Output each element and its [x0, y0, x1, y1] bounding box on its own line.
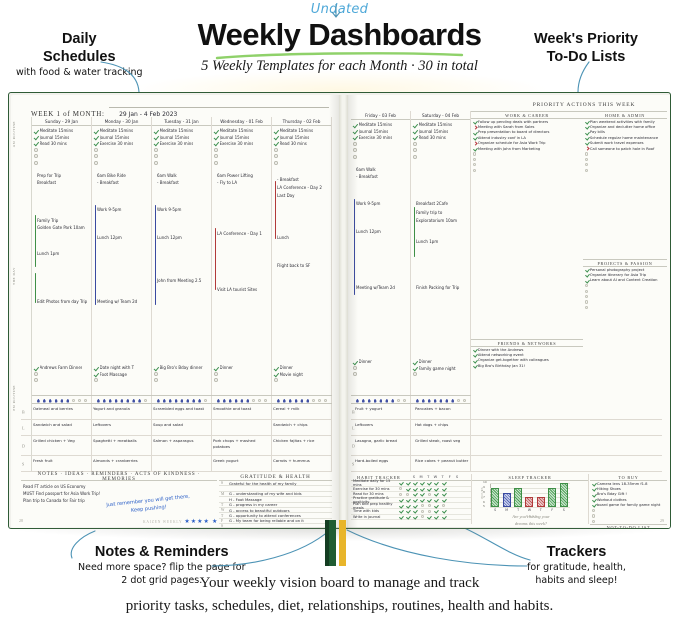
check-icon	[94, 366, 98, 370]
water-drop-icon[interactable]	[379, 399, 382, 403]
water-drop-icon[interactable]	[169, 399, 172, 403]
check-icon	[413, 129, 417, 133]
empty-checkbox[interactable]	[214, 161, 218, 165]
water-drop-icon[interactable]	[318, 399, 321, 402]
schedule-entry[interactable]: Visit LA tourist Sites	[217, 287, 257, 292]
water-drop-icon[interactable]	[434, 399, 437, 403]
meal-cell[interactable]: Fruit + yogurt	[355, 406, 413, 412]
category-title: HOME & ADMIN	[605, 113, 645, 118]
water-drop-icon[interactable]	[60, 399, 63, 403]
empty-checkbox[interactable]	[585, 169, 588, 172]
habit-cell[interactable]	[426, 514, 433, 520]
schedule-entry[interactable]: LA Conference - Day 1	[217, 231, 262, 236]
water-drop-icon[interactable]	[457, 399, 460, 402]
schedule-entry[interactable]: John from Meeting 2.5	[157, 278, 201, 283]
check-icon	[421, 498, 424, 501]
list-item-label: board game for family game night	[597, 503, 660, 507]
empty-checkbox[interactable]	[34, 154, 38, 158]
water-drop-icon[interactable]	[240, 399, 243, 403]
check-icon	[442, 509, 445, 512]
water-drop-icon[interactable]	[385, 399, 388, 403]
water-drop-icon[interactable]	[229, 399, 232, 403]
water-drop-icon[interactable]	[49, 399, 52, 403]
schedule-entry[interactable]: Edit Photos from day Trip	[37, 299, 87, 304]
gratitude-day: W	[221, 508, 226, 512]
meal-cell[interactable]: Oatmeal and berries	[33, 406, 91, 412]
schedule-entry[interactable]: - Breakfast	[356, 174, 378, 179]
empty-checkbox[interactable]	[413, 372, 417, 376]
evening-routine: DinnerMovie night	[272, 363, 332, 384]
habit-cell[interactable]	[419, 514, 426, 520]
water-drop-icon[interactable]	[451, 399, 454, 403]
day-header[interactable]: Wednesday - 01 Feb	[212, 117, 271, 126]
check-icon	[442, 481, 445, 484]
water-drop-icon[interactable]	[246, 399, 249, 403]
water-drop-icon[interactable]	[391, 399, 394, 403]
day-schedule[interactable]: 6am Walk- BreakfastWork 9-5pmLunch 12pmJ…	[152, 173, 212, 363]
empty-checkbox[interactable]	[421, 515, 424, 518]
water-drop-icon[interactable]	[120, 399, 123, 403]
checklist-item[interactable]	[94, 159, 149, 165]
habit-day-label: S	[454, 475, 461, 479]
category-items[interactable]: Dinner with the AndrewsAttend networking…	[471, 347, 583, 369]
schedule-entry[interactable]: Breakfast	[37, 180, 56, 185]
meal-cell[interactable]: Chicken fajitas + rice	[273, 438, 331, 444]
empty-checkbox[interactable]	[34, 372, 38, 376]
water-drop-icon[interactable]	[264, 399, 267, 402]
checklist-item[interactable]	[353, 153, 408, 159]
water-drop-icon[interactable]	[55, 399, 58, 403]
water-drop-icon[interactable]	[422, 399, 425, 403]
checklist-item[interactable]: Big Bro's Bday dinner	[154, 365, 210, 371]
empty-checkbox[interactable]	[473, 152, 476, 155]
water-drop-icon[interactable]	[132, 399, 135, 403]
check-icon	[406, 487, 409, 490]
water-drop-icon[interactable]	[445, 399, 448, 403]
empty-checkbox[interactable]	[214, 148, 218, 152]
meal-cell[interactable]: Greek yogurt	[213, 458, 271, 464]
list-item[interactable]: Schedule regular home maintenance	[583, 135, 667, 140]
list-item-label: Workout clothes	[597, 498, 627, 502]
habit-cell[interactable]	[397, 514, 404, 520]
empty-checkbox[interactable]	[154, 154, 158, 158]
empty-checkbox[interactable]	[585, 158, 588, 161]
water-drop-icon[interactable]	[103, 399, 106, 403]
checklist-item[interactable]	[214, 377, 270, 383]
empty-checkbox[interactable]	[413, 155, 417, 159]
check-icon	[406, 498, 409, 501]
empty-checkbox[interactable]	[585, 152, 588, 155]
empty-checkbox[interactable]	[592, 509, 595, 512]
check-icon	[435, 498, 438, 501]
schedule-entry[interactable]: Meeting w/Team 2d	[356, 285, 395, 290]
list-item-label: Learn about AI and Content Creation	[590, 278, 658, 282]
empty-checkbox[interactable]	[421, 504, 424, 507]
empty-checkbox[interactable]	[214, 378, 218, 382]
meal-cell[interactable]: Yogurt and granola	[93, 406, 151, 412]
meal-cell[interactable]: Smoothie and toast	[213, 406, 271, 412]
water-drop-icon[interactable]	[463, 399, 466, 402]
habit-cell[interactable]	[440, 514, 447, 520]
meal-cell[interactable]: Salmon + asparagus	[153, 438, 211, 444]
callout-daily-line1: Daily	[16, 30, 143, 48]
empty-checkbox[interactable]	[585, 295, 588, 298]
time-block-bar	[95, 205, 97, 305]
meal-cell[interactable]: Hard-boiled eggs	[355, 458, 413, 464]
water-drop-icon[interactable]	[235, 399, 238, 403]
empty-checkbox[interactable]	[406, 493, 409, 496]
checklist-item[interactable]	[274, 377, 330, 383]
water-drop-icon[interactable]	[428, 399, 431, 403]
list-item-label: Follow up pending deals with partners	[478, 120, 548, 124]
category-items[interactable]: Plan weekend activities with familyOrgan…	[583, 119, 667, 173]
schedule-entry[interactable]: - Fly to LA	[217, 180, 237, 185]
checklist-item[interactable]	[94, 377, 150, 383]
empty-checkbox[interactable]	[274, 378, 278, 382]
meal-cell[interactable]: Leftovers	[355, 422, 413, 428]
check-icon	[34, 129, 38, 133]
gratitude-body[interactable]: SGrateful for the health of my familyMG …	[219, 481, 332, 529]
checklist-item[interactable]	[274, 159, 329, 165]
list-item[interactable]	[583, 305, 667, 310]
day-header[interactable]: Friday - 03 Feb	[351, 111, 410, 120]
empty-checkbox[interactable]	[34, 161, 38, 165]
schedule-entry[interactable]: Lunch	[277, 235, 289, 240]
schedule-entry[interactable]: Last Day	[277, 193, 295, 198]
day-header[interactable]: Tuesday - 31 Jan	[152, 117, 211, 126]
water-drop-icon[interactable]	[368, 399, 371, 403]
empty-checkbox[interactable]	[94, 161, 98, 165]
gratitude-text: H - Foot Massage	[229, 497, 262, 502]
checklist-label: Meditate 15mins	[100, 128, 134, 133]
meal-cell[interactable]: Pancakes + bacon	[415, 406, 473, 412]
list-item-label: Hiking Shoes	[597, 487, 621, 491]
check-icon	[592, 493, 595, 496]
day-header[interactable]: Saturday - 04 Feb	[411, 111, 470, 120]
water-drop-icon[interactable]	[157, 399, 160, 403]
water-drop-icon[interactable]	[258, 399, 261, 402]
meal-cell[interactable]: Scrambled eggs and toast	[153, 406, 211, 412]
water-drop-icon[interactable]	[72, 399, 75, 402]
checklist-item[interactable]	[413, 153, 468, 159]
habit-cell[interactable]	[411, 514, 418, 520]
schedule-entry[interactable]: Meeting w/ Team 2d	[97, 299, 137, 304]
empty-checkbox[interactable]	[442, 504, 445, 507]
water-drop-icon[interactable]	[43, 399, 46, 403]
schedule-entry[interactable]: Exploratorium 10am	[416, 218, 457, 223]
checklist-item[interactable]	[154, 377, 210, 383]
habit-rows[interactable]: Meditate daily for 15 minsExercise for 3…	[351, 481, 471, 520]
meal-cell[interactable]: Carrots + hummus	[273, 458, 331, 464]
checklist-label: Meditate 15mins	[280, 128, 314, 133]
water-tracker-left[interactable]	[32, 395, 332, 404]
meal-cell[interactable]: Spaghetti + meatballs	[93, 438, 151, 444]
checklist-label: Meditate 15mins	[220, 128, 254, 133]
schedule-entry[interactable]: LA Conference - Day 2	[277, 185, 322, 190]
meal-cell[interactable]: Leftovers	[93, 422, 151, 428]
habit-day-label: W	[432, 475, 439, 479]
check-icon	[585, 136, 588, 139]
water-drop-icon[interactable]	[324, 399, 327, 402]
empty-checkbox[interactable]	[274, 154, 278, 158]
water-tracker-right[interactable]	[351, 395, 471, 404]
to-buy-list[interactable]: Camera lens 18-35mm f1.8Hiking ShoesBro'…	[590, 481, 667, 524]
meal-cell[interactable]: Hot dogs + chips	[415, 422, 473, 428]
empty-checkbox[interactable]	[274, 161, 278, 165]
checklist-label: Meditate 15mins	[359, 122, 393, 127]
water-drop-icon[interactable]	[175, 399, 178, 403]
list-item[interactable]	[583, 168, 667, 173]
checklist-item[interactable]	[413, 371, 469, 377]
water-drop-icon[interactable]	[97, 399, 100, 403]
checklist-item[interactable]: Andrews Farm Dinner	[34, 365, 90, 371]
habit-day-label: S	[411, 475, 418, 479]
empty-checkbox[interactable]	[473, 158, 476, 161]
empty-checkbox[interactable]	[585, 300, 588, 303]
callout-trackers-line1: Trackers	[527, 543, 626, 561]
list-item[interactable]: Organize and declutter home office	[583, 124, 667, 129]
meal-cell[interactable]: Soup and salad	[153, 422, 211, 428]
water-drop-icon[interactable]	[416, 399, 419, 403]
schedule-entry[interactable]: Lunch 12pm	[356, 229, 381, 234]
water-drop-icon[interactable]	[277, 399, 280, 403]
check-icon	[473, 364, 476, 367]
water-drop-icon[interactable]	[403, 399, 406, 402]
day-schedule[interactable]: 6am Power Lifting- Fly to LALA Conferenc…	[212, 173, 272, 363]
empty-checkbox[interactable]	[214, 372, 218, 376]
water-drop-icon[interactable]	[217, 399, 220, 403]
callout-priority-line2: To-Do Lists	[534, 48, 638, 66]
note-line[interactable]: Read FT article on US Economy	[23, 483, 215, 490]
sleep-y-tick: 10	[483, 481, 569, 484]
right-page: PRIORITY ACTIONS THIS WEEK Friday - 03 F…	[349, 95, 670, 528]
water-drop-icon[interactable]	[138, 399, 141, 403]
water-drop-icon[interactable]	[198, 399, 201, 403]
schedule-entry[interactable]: Family trip to	[416, 210, 442, 215]
schedule-entry[interactable]: Lunch 12pm	[97, 235, 122, 240]
empty-checkbox[interactable]	[421, 510, 424, 513]
empty-checkbox[interactable]	[154, 378, 158, 382]
empty-checkbox[interactable]	[585, 284, 588, 287]
meal-cell[interactable]: Sandwich + chips	[273, 422, 331, 428]
empty-checkbox[interactable]	[592, 520, 595, 523]
list-item[interactable]: Big Bro's Birthday Jan 31!	[471, 363, 583, 368]
empty-checkbox[interactable]	[585, 163, 588, 166]
empty-checkbox[interactable]	[94, 378, 98, 382]
meal-cell[interactable]: Almonds + cranberries	[93, 458, 151, 464]
empty-checkbox[interactable]	[585, 306, 588, 309]
water-drop-icon[interactable]	[180, 399, 183, 403]
water-drop-icon[interactable]	[109, 399, 112, 403]
schedule-entry[interactable]: - Breakfast	[97, 180, 119, 185]
gratitude-text: G - My team for being reliable and on it	[229, 518, 304, 523]
empty-checkbox[interactable]	[413, 148, 417, 152]
schedule-entry[interactable]: Finish Packing for Trip	[416, 285, 459, 290]
list-item[interactable]: board game for family game night	[590, 503, 667, 508]
checklist-label: Foot Massage	[100, 372, 127, 377]
meal-cell[interactable]: Rice cakes + peanut butter	[415, 458, 473, 464]
habit-row[interactable]: Write in journal	[351, 515, 471, 521]
meal-row: SHard-boiled eggsRice cakes + peanut but…	[351, 456, 662, 472]
water-drop-icon[interactable]	[37, 399, 40, 403]
meal-cell[interactable]: Sandwich and salad	[33, 422, 91, 428]
schedule-entry[interactable]: Breakfast 2Cafe	[416, 201, 448, 206]
product-promo-page: Undated Weekly Dashboards 5 Weekly Templ…	[0, 0, 679, 638]
checklist-item[interactable]	[154, 159, 209, 165]
water-drop-icon[interactable]	[300, 399, 303, 403]
check-icon	[473, 136, 476, 139]
habit-cell[interactable]	[433, 514, 440, 520]
day-schedule[interactable]: - BreakfastLA Conference - Day 2Last Day…	[272, 173, 332, 363]
water-drop-icon[interactable]	[362, 399, 365, 403]
empty-checkbox[interactable]	[399, 493, 402, 496]
meal-cell[interactable]: Lasagna, garlic bread	[355, 438, 413, 444]
water-drop-icon[interactable]	[289, 399, 292, 403]
check-icon	[406, 504, 409, 507]
water-drop-icon[interactable]	[144, 399, 147, 402]
schedule-entry[interactable]: 6am Power Lifting	[217, 173, 253, 178]
water-drop-icon[interactable]	[223, 399, 226, 403]
check-icon	[592, 504, 595, 507]
schedule-entry[interactable]: Family Trip	[37, 218, 58, 223]
checklist-item[interactable]	[214, 159, 269, 165]
water-drop-icon[interactable]	[163, 399, 166, 403]
water-drop-icon[interactable]	[186, 399, 189, 403]
empty-checkbox[interactable]	[154, 161, 158, 165]
water-drop-icon[interactable]	[84, 399, 87, 402]
day-schedule[interactable]: 6am Bike Ride- BreakfastWork 9-5pmLunch …	[92, 173, 152, 363]
checklist-label: Journal 15mins	[220, 135, 250, 140]
schedule-entry[interactable]: Work 9-5pm	[356, 201, 380, 206]
day-schedule[interactable]: Breakfast 2CafeFamily trip toExploratori…	[411, 167, 471, 357]
day-schedule[interactable]: 6am Walk- BreakfastWork 9-5pmLunch 12pmM…	[351, 167, 411, 357]
water-drop-icon[interactable]	[204, 399, 207, 402]
schedule-entry[interactable]: - Breakfast	[277, 177, 299, 182]
check-icon	[406, 509, 409, 512]
empty-checkbox[interactable]	[94, 154, 98, 158]
check-icon	[428, 481, 431, 484]
checklist-item[interactable]	[34, 159, 89, 165]
empty-checkbox[interactable]	[592, 514, 595, 517]
meal-cell[interactable]: Grilled steak, roast veg	[415, 438, 473, 444]
water-drop-icon[interactable]	[252, 399, 255, 402]
meal-row: LLeftoversHot dogs + chips	[351, 420, 662, 436]
day-schedule[interactable]: Prep for TripBreakfastFamily TripGolden …	[32, 173, 92, 363]
habit-day-label: M	[418, 475, 425, 479]
check-icon	[413, 481, 416, 484]
schedule-entry[interactable]: Lunch 1pm	[416, 239, 438, 244]
water-drop-icon[interactable]	[115, 399, 118, 403]
empty-checkbox[interactable]	[428, 510, 431, 513]
water-drop-icon[interactable]	[374, 399, 377, 403]
checklist-item[interactable]	[34, 377, 90, 383]
schedule-entry[interactable]: Prep for Trip	[37, 173, 61, 178]
empty-checkbox[interactable]	[34, 378, 38, 382]
schedule-entry[interactable]: Work 9-5pm	[157, 207, 181, 212]
rail-label-0: AM ROUTINE	[12, 121, 23, 147]
empty-checkbox[interactable]	[154, 372, 158, 376]
check-icon	[154, 135, 158, 139]
list-item[interactable]	[471, 168, 583, 173]
meal-tag: S	[22, 461, 24, 466]
sleep-x-tick: W	[525, 508, 533, 512]
check-icon	[94, 372, 98, 376]
empty-checkbox[interactable]	[473, 163, 476, 166]
schedule-entry[interactable]: Lunch 1pm	[37, 251, 59, 256]
checklist-item[interactable]	[353, 371, 409, 377]
category-items[interactable]: Follow up pending deals with partnersMee…	[471, 119, 583, 173]
empty-checkbox[interactable]	[413, 142, 417, 146]
empty-checkbox[interactable]	[473, 169, 476, 172]
meal-cell[interactable]: Fresh fruit	[33, 458, 91, 464]
empty-checkbox[interactable]	[214, 154, 218, 158]
water-drop-icon[interactable]	[295, 399, 298, 403]
check-icon	[214, 141, 218, 145]
schedule-entry[interactable]: Golden Gate Park 10am	[37, 225, 85, 230]
checklist-label: Dinner	[280, 365, 293, 370]
empty-checkbox[interactable]	[94, 148, 98, 152]
sleep-x-tick: S	[560, 508, 568, 512]
check-icon	[413, 498, 416, 501]
water-drop-icon[interactable]	[66, 399, 69, 403]
priority-category: FRIENDS & NETWORKSDinner with the Andrew…	[471, 339, 583, 369]
list-item[interactable]: Plan weekend activities with family	[583, 119, 667, 124]
schedule-entry[interactable]: Flight back to SF	[277, 263, 310, 268]
day-header[interactable]: Monday - 30 Jan	[92, 117, 151, 126]
schedule-entry[interactable]: 6am Walk	[157, 173, 177, 178]
empty-checkbox[interactable]	[585, 290, 588, 293]
eyebrow-undated: Undated	[311, 2, 368, 17]
list-item-label: Plan weekend activities with family	[590, 120, 655, 124]
day-header[interactable]: Thursday - 02 Feb	[272, 117, 331, 126]
water-drop-icon[interactable]	[397, 399, 400, 402]
schedule-entry[interactable]: - Breakfast	[157, 180, 179, 185]
meal-cell[interactable]: Cereal + milk	[273, 406, 331, 412]
water-drop-icon[interactable]	[192, 399, 195, 403]
forward-arrow-icon	[473, 142, 476, 145]
empty-checkbox[interactable]	[34, 148, 38, 152]
meal-cell[interactable]: Pork chops + mashed potatoes	[213, 438, 271, 449]
water-drop-icon[interactable]	[439, 399, 442, 403]
water-drop-icon[interactable]	[283, 399, 286, 403]
page-number-right: 29	[660, 518, 664, 523]
time-block-bar	[275, 181, 277, 239]
empty-checkbox[interactable]	[428, 493, 431, 496]
schedule-entry[interactable]: 6am Bike Ride	[97, 173, 126, 178]
water-drop-icon[interactable]	[126, 399, 129, 403]
schedule-entry[interactable]: Lunch 12pm	[157, 235, 182, 240]
check-icon	[585, 142, 588, 145]
list-item[interactable]: Learn about AI and Content Creation	[583, 278, 667, 283]
empty-checkbox[interactable]	[154, 148, 158, 152]
empty-checkbox[interactable]	[428, 504, 431, 507]
check-icon	[585, 273, 588, 276]
checklist-label: Date night with T	[100, 365, 135, 370]
schedule-entry[interactable]: Work 9-5pm	[97, 207, 121, 212]
water-drop-icon[interactable]	[78, 399, 81, 402]
schedule-entry[interactable]: 6am Walk	[356, 167, 376, 172]
check-icon	[413, 135, 417, 139]
empty-checkbox[interactable]	[399, 487, 402, 490]
meal-cell[interactable]: Grilled chicken + Veg	[33, 438, 91, 444]
habit-cell[interactable]	[404, 514, 411, 520]
category-items[interactable]: Personal photography projectOrganize iti…	[583, 267, 667, 310]
water-drop-icon[interactable]	[312, 399, 315, 402]
morning-routine: Meditate 15minsJournal 15minsExercise 30…	[351, 120, 410, 160]
day-header[interactable]: Sunday - 29 Jan	[32, 117, 91, 126]
water-drop-icon[interactable]	[306, 399, 309, 403]
empty-checkbox[interactable]	[274, 148, 278, 152]
